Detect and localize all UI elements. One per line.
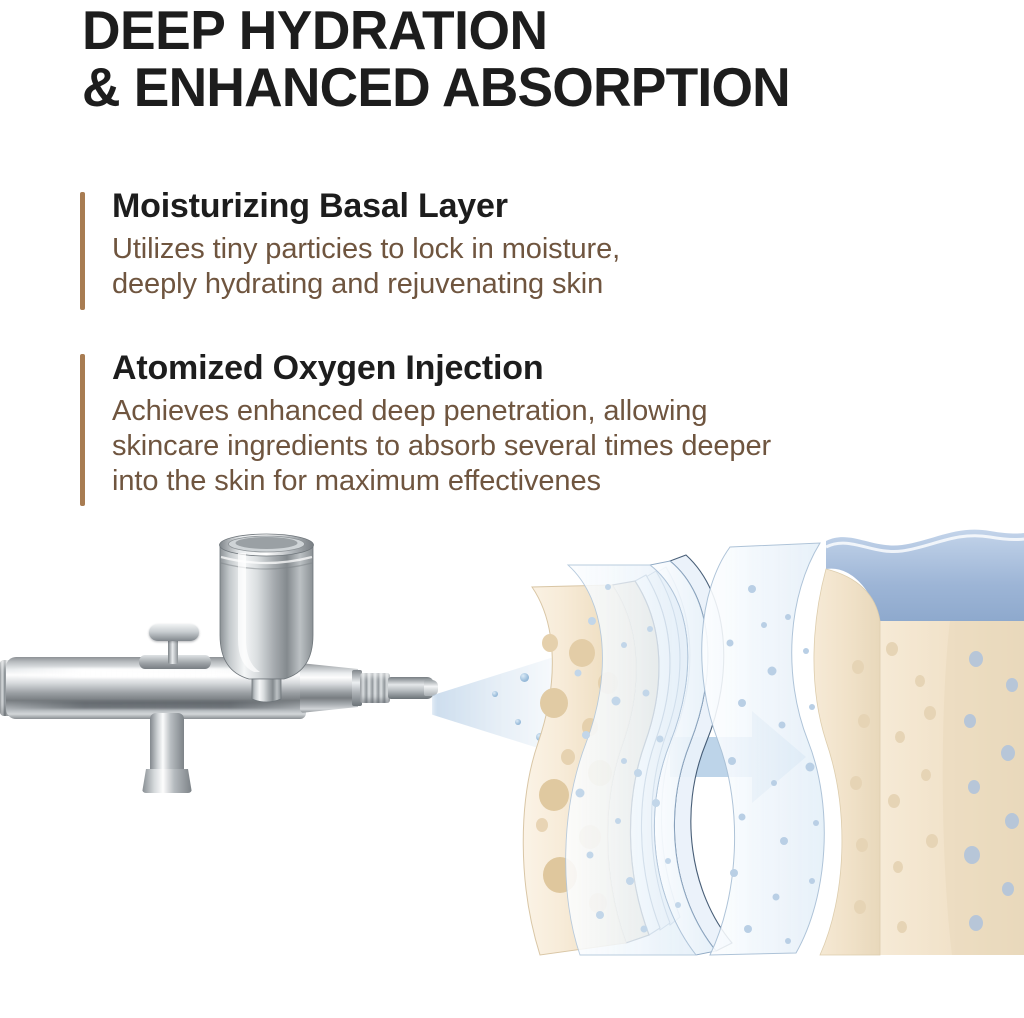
product-feature-infographic: DEEP HYDRATION & ENHANCED ABSORPTION Moi… [0, 0, 1024, 1018]
feature-body: Utilizes tiny particies to lock in moist… [112, 232, 620, 302]
accent-bar [80, 192, 85, 310]
feature-body-line-2: skincare ingredients to absorb several t… [112, 429, 771, 464]
page-title: DEEP HYDRATION & ENHANCED ABSORPTION [82, 2, 955, 116]
cup-body [220, 545, 313, 679]
paint-reservoir-cup [208, 519, 338, 704]
feature-body-line-1: Utilizes tiny particies to lock in moist… [112, 232, 620, 267]
skin-layer-diagram [520, 525, 1024, 995]
trigger-stem [168, 638, 178, 664]
headline-line-2: & ENHANCED ABSORPTION [82, 59, 955, 116]
mist-droplet [492, 691, 498, 697]
feature-body-line-3: into the skin for maximum effectivenes [112, 464, 771, 499]
nozzle-tip-end [424, 680, 438, 696]
airbrush-handpiece-icon [0, 505, 470, 1018]
feature-body-line-2: deeply hydrating and rejuvenating skin [112, 267, 620, 302]
cup-opening [236, 537, 298, 549]
product-illustration [0, 505, 1024, 1018]
nozzle-knurl [360, 673, 390, 703]
accent-bar [80, 354, 85, 506]
support-post-foot [142, 769, 192, 793]
feature-title: Atomized Oxygen Injection [112, 348, 543, 388]
trigger-lever [149, 624, 199, 641]
cup-neck [252, 679, 281, 702]
feature-body-line-1: Achieves enhanced deep penetration, allo… [112, 394, 771, 429]
feature-body: Achieves enhanced deep penetration, allo… [112, 394, 771, 499]
dermis-slab [814, 530, 1024, 955]
headline-line-1: DEEP HYDRATION [82, 2, 955, 59]
feature-title: Moisturizing Basal Layer [112, 186, 508, 226]
